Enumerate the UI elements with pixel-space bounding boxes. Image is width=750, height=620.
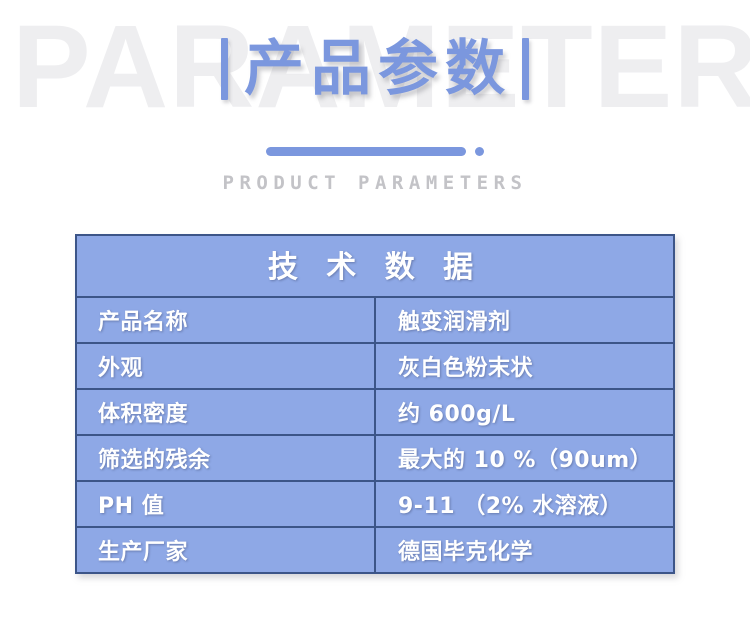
divider-dot-icon bbox=[475, 147, 484, 156]
spec-table-title: 技 术 数 据 bbox=[76, 235, 674, 297]
table-row: PH 值 9-11 （2% 水溶液） bbox=[76, 481, 674, 527]
page-banner: PARAMETERS 产品参数 PRODUCT PARAMETERS bbox=[0, 0, 750, 215]
row-value-bulk-density: 约 600g/L bbox=[375, 389, 674, 435]
decorative-divider bbox=[0, 140, 750, 162]
row-value-product-name: 触变润滑剂 bbox=[375, 297, 674, 343]
table-header-row: 技 术 数 据 bbox=[76, 235, 674, 297]
row-key-bulk-density: 体积密度 bbox=[76, 389, 375, 435]
divider-bar-icon bbox=[266, 147, 466, 156]
row-key-ph-value: PH 值 bbox=[76, 481, 375, 527]
title-right-bar-icon bbox=[522, 38, 529, 100]
row-key-manufacturer: 生产厂家 bbox=[76, 527, 375, 573]
spec-table: 技 术 数 据 产品名称 触变润滑剂 外观 灰白色粉末状 体积密度 约 600g… bbox=[75, 234, 675, 574]
title-row: 产品参数 bbox=[0, 26, 750, 112]
table-row: 外观 灰白色粉末状 bbox=[76, 343, 674, 389]
row-value-sieve-residue: 最大的 10 %（90um） bbox=[375, 435, 674, 481]
table-row: 产品名称 触变润滑剂 bbox=[76, 297, 674, 343]
spec-table-body: 技 术 数 据 产品名称 触变润滑剂 外观 灰白色粉末状 体积密度 约 600g… bbox=[76, 235, 674, 573]
row-value-ph-value: 9-11 （2% 水溶液） bbox=[375, 481, 674, 527]
spec-table-container: 技 术 数 据 产品名称 触变润滑剂 外观 灰白色粉末状 体积密度 约 600g… bbox=[75, 234, 675, 574]
page-title: 产品参数 bbox=[238, 35, 512, 103]
row-value-appearance: 灰白色粉末状 bbox=[375, 343, 674, 389]
row-key-product-name: 产品名称 bbox=[76, 297, 375, 343]
table-row: 生产厂家 德国毕克化学 bbox=[76, 527, 674, 573]
row-key-appearance: 外观 bbox=[76, 343, 375, 389]
row-value-manufacturer: 德国毕克化学 bbox=[375, 527, 674, 573]
row-key-sieve-residue: 筛选的残余 bbox=[76, 435, 375, 481]
page-subtitle: PRODUCT PARAMETERS bbox=[0, 172, 750, 194]
table-row: 筛选的残余 最大的 10 %（90um） bbox=[76, 435, 674, 481]
title-left-bar-icon bbox=[221, 38, 228, 100]
table-row: 体积密度 约 600g/L bbox=[76, 389, 674, 435]
